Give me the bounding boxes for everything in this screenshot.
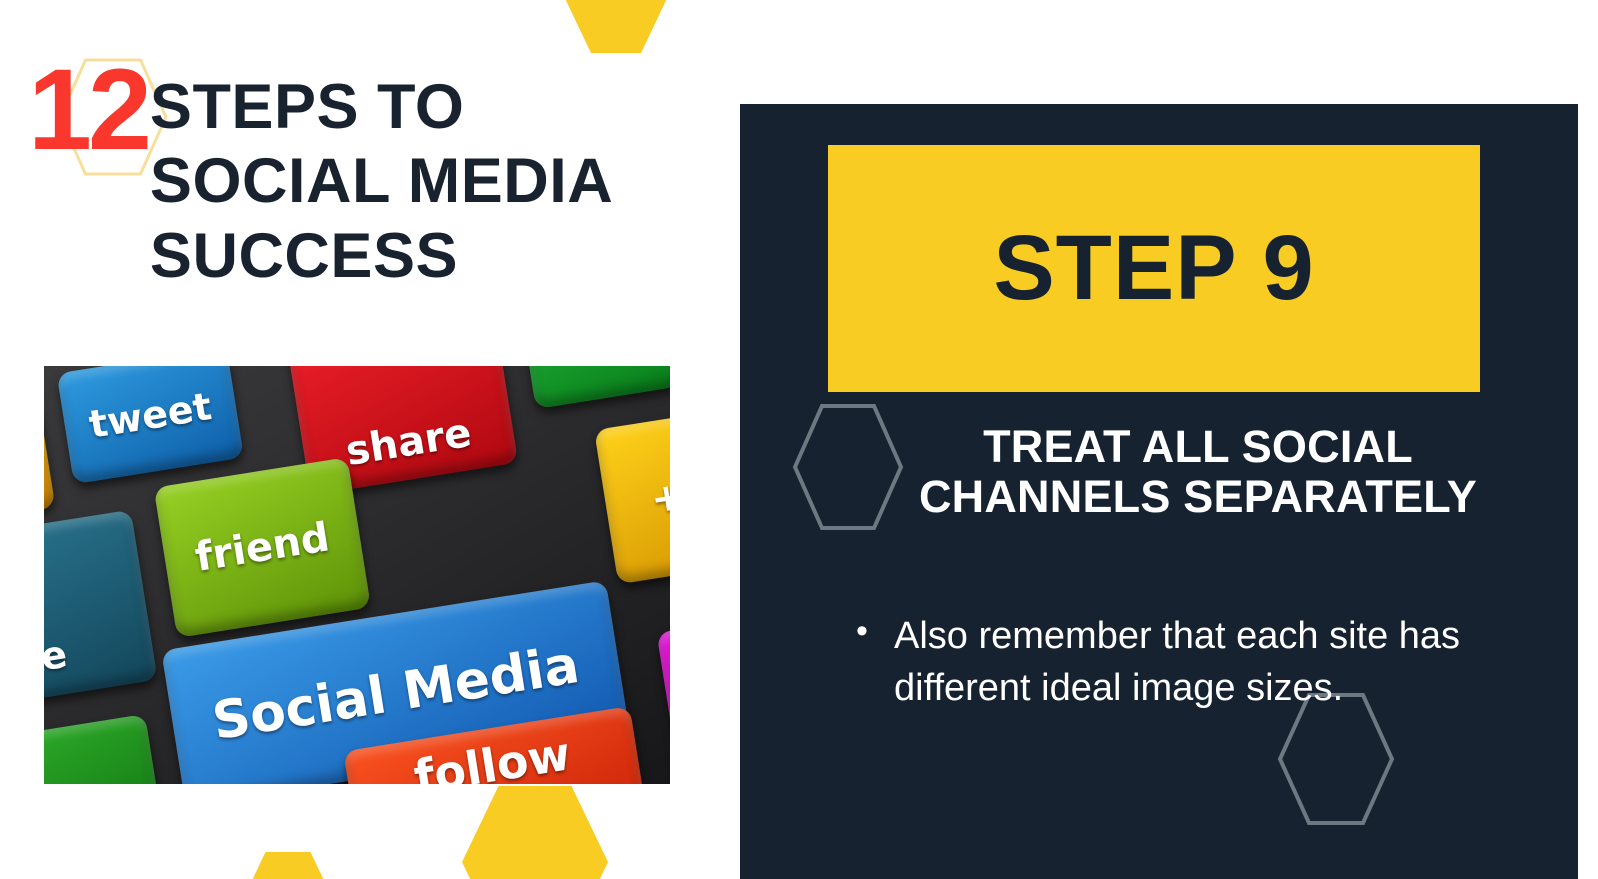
- key-like: like: [44, 510, 158, 709]
- step-count-number: 12: [28, 58, 148, 164]
- hexagon-decoration-bottom-small: [243, 852, 333, 879]
- hexagon-decoration-bottom-large: [462, 786, 608, 879]
- key-magenta-edge: [657, 613, 670, 772]
- list-item: Also remember that each site has differe…: [848, 610, 1548, 715]
- keyboard-keys-group: tweet share blog friend like +1 Social M…: [44, 366, 670, 784]
- slide-canvas: 12 STEPS TO SOCIAL MEDIA SUCCESS tweet s…: [0, 0, 1598, 879]
- hexagon-decoration-top: [566, 0, 666, 53]
- step-badge: STEP 9: [828, 145, 1480, 392]
- page-title: STEPS TO SOCIAL MEDIA SUCCESS: [150, 70, 708, 293]
- bullet-list: Also remember that each site has differe…: [848, 610, 1548, 715]
- step-badge-label: STEP 9: [993, 216, 1314, 321]
- key-tweet: tweet: [57, 366, 244, 484]
- social-media-keyboard-image: tweet share blog friend like +1 Social M…: [44, 366, 670, 784]
- title-row: 12 STEPS TO SOCIAL MEDIA SUCCESS: [28, 62, 708, 293]
- key-label: share: [343, 410, 475, 475]
- key-add: add: [44, 714, 169, 784]
- key-label: friend: [192, 514, 333, 581]
- key-friend: friend: [154, 457, 371, 638]
- title-block: 12 STEPS TO SOCIAL MEDIA SUCCESS: [28, 62, 708, 293]
- key-plus-one: +1: [594, 407, 670, 585]
- step-detail-panel: STEP 9 TREAT ALL SOCIAL CHANNELS SEPARAT…: [740, 104, 1578, 879]
- key-label: +1: [648, 469, 670, 522]
- key-label: like: [44, 632, 70, 687]
- headline-line-2: CHANNELS SEPARATELY: [818, 472, 1578, 522]
- key-orange-edge: [44, 401, 55, 526]
- key-blog: blog: [517, 366, 670, 409]
- headline-line-1: TREAT ALL SOCIAL: [818, 422, 1578, 472]
- key-label: tweet: [86, 384, 214, 447]
- headline: TREAT ALL SOCIAL CHANNELS SEPARATELY: [818, 422, 1578, 523]
